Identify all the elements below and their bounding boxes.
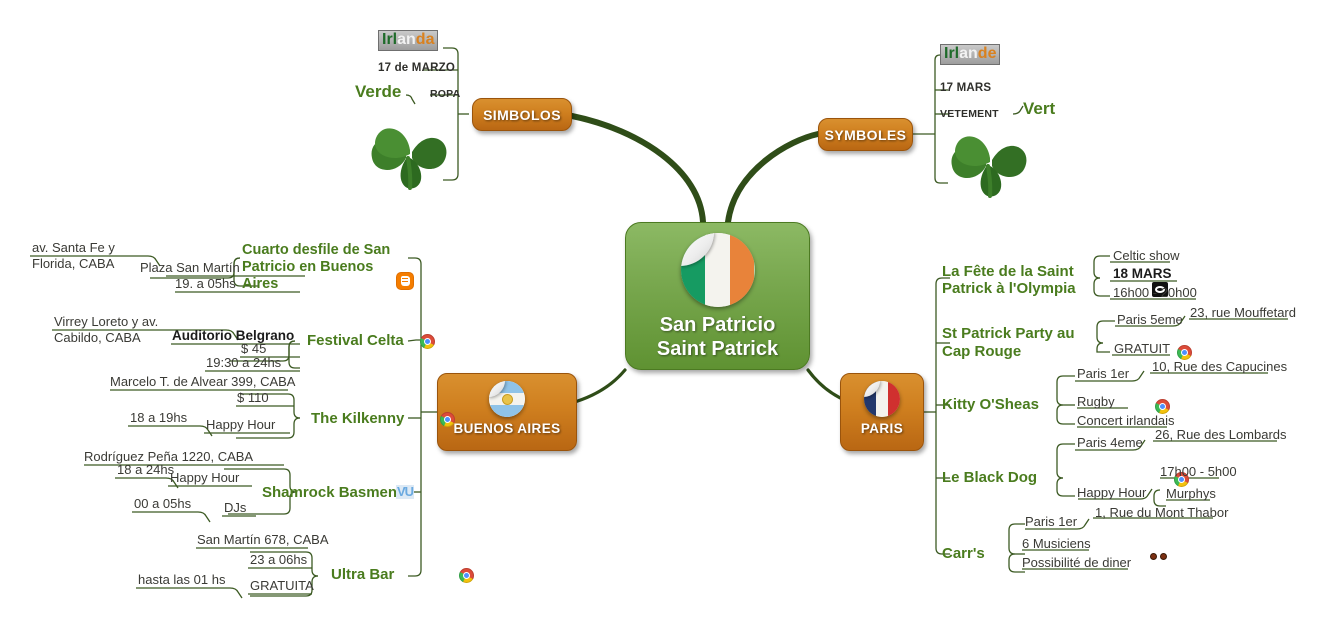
ba-detail-2-2: Auditorio Belgrano: [172, 328, 294, 343]
france-flag-sticker-icon: [864, 381, 900, 417]
ba-item-title-3[interactable]: The Kilkenny: [311, 410, 404, 427]
symboles-chip-irlande: Irlande: [940, 44, 1000, 65]
blogger-icon[interactable]: [397, 273, 413, 289]
ireland-flag-sticker-icon: [681, 233, 755, 307]
ba-item-title-1[interactable]: Cuarto desfile de San Patricio en Buenos…: [242, 242, 392, 293]
chip-fr-part3: de: [978, 45, 997, 62]
pa-item-title-4[interactable]: Le Black Dog: [942, 469, 1037, 486]
ba-detail-2-3: $ 45: [241, 341, 266, 356]
ba-item-title-2[interactable]: Festival Celta: [307, 332, 404, 349]
pa-detail-3-2: Rugby: [1077, 394, 1115, 409]
simbolos-color: Verde: [355, 82, 401, 102]
chrome-icon[interactable]: [459, 568, 474, 583]
node-paris[interactable]: PARIS: [840, 373, 924, 451]
ba-detail-4-1: Happy Hour: [170, 470, 239, 485]
central-node[interactable]: San Patricio Saint Patrick: [625, 222, 810, 370]
pa-detail-5-0: Paris 1er: [1025, 514, 1077, 529]
central-title-line1: San Patricio: [657, 313, 778, 337]
symboles-date: 17 MARS: [940, 82, 991, 94]
ba-detail-5-3: hasta las 01 hs: [138, 572, 225, 587]
symboles-clothing: VETEMENT: [940, 108, 999, 120]
chip-part1: Irl: [382, 31, 397, 48]
shamrock-clover-icon: [360, 112, 460, 192]
central-title-line2: Saint Patrick: [657, 337, 778, 361]
pa-item-title-5[interactable]: Carr's: [942, 545, 985, 562]
ba-detail-2-1: Cabildo, CABA: [54, 330, 141, 345]
vu-icon[interactable]: VU: [396, 485, 414, 499]
mindmap-canvas: San Patricio Saint Patrick SIMBOLOS Irla…: [0, 0, 1322, 629]
ba-detail-1-0: av. Santa Fe y: [32, 240, 115, 255]
ba-detail-4-3: DJs: [224, 500, 246, 515]
simbolos-clothing: ROPA: [430, 88, 460, 100]
pa-detail-4-1: 26, Rue des Lombards: [1155, 427, 1287, 442]
simbolos-chip-irlanda: Irlanda: [378, 30, 438, 51]
pa-item-title-1-l1[interactable]: La Fête de la Saint: [942, 263, 1074, 280]
symboles-label: SYMBOLES: [825, 127, 907, 143]
pa-detail-5-3: Possibilité de diner: [1022, 555, 1131, 570]
pa-detail-4-4: Murphys: [1166, 486, 1216, 501]
ba-detail-4-2: 18 a 24hs: [117, 462, 174, 477]
pa-detail-4-0: Paris 4eme: [1077, 435, 1143, 450]
shamrock-clover-icon-fr: [940, 120, 1040, 200]
ba-detail-3-1: $ 110: [237, 390, 269, 405]
node-symboles[interactable]: SYMBOLES: [818, 118, 913, 151]
pa-detail-3-0: Paris 1er: [1077, 366, 1129, 381]
chip-fr-part2: an: [959, 45, 978, 62]
chrome-icon[interactable]: [420, 334, 435, 349]
pa-detail-1-2: 16h00 - 20h00: [1113, 285, 1197, 300]
mask-glasses-icon[interactable]: [1150, 552, 1167, 563]
pa-detail-2-1: 23, rue Mouffetard: [1190, 305, 1296, 320]
simbolos-label: SIMBOLOS: [483, 107, 561, 123]
pa-detail-3-1: 10, Rue des Capucines: [1152, 359, 1287, 374]
pa-detail-1-1: 18 MARS: [1113, 266, 1172, 281]
simbolos-date: 17 de MARZO: [378, 62, 455, 74]
node-buenos-aires[interactable]: BUENOS AIRES: [437, 373, 577, 451]
chip-fr-part1: Irl: [944, 45, 959, 62]
pa-detail-3-3: Concert irlandais: [1077, 413, 1175, 428]
ba-detail-1-3: 19. a 05hs: [175, 276, 236, 291]
paris-label: PARIS: [861, 421, 903, 436]
buenos-aires-label: BUENOS AIRES: [453, 421, 560, 436]
pa-detail-4-3: 17h00 - 5h00: [1160, 464, 1237, 479]
ba-detail-5-2: GRATUITA: [250, 578, 314, 593]
ba-detail-3-0: Marcelo T. de Alvear 399, CABA: [110, 374, 295, 389]
ba-detail-5-1: 23 a 06hs: [250, 552, 307, 567]
pa-item-title-2-l2[interactable]: Cap Rouge: [942, 343, 1021, 360]
ba-detail-3-2: Happy Hour: [206, 417, 275, 432]
ba-detail-2-4: 19:30 a 24hs: [206, 355, 281, 370]
pa-item-title-3[interactable]: Kitty O'Sheas: [942, 396, 1039, 413]
ba-detail-2-0: Virrey Loreto y av.: [54, 314, 158, 329]
ba-detail-1-1: Florida, CABA: [32, 256, 114, 271]
ba-item-title-4[interactable]: Shamrock Basment: [262, 484, 402, 501]
pa-item-title-2-l1[interactable]: St Patrick Party au: [942, 325, 1075, 342]
pa-detail-5-1: 1, Rue du Mont Thabor: [1095, 505, 1228, 520]
chip-part2: an: [397, 31, 416, 48]
ba-item-title-5[interactable]: Ultra Bar: [331, 566, 394, 583]
pa-item-title-1-l2[interactable]: Patrick à l'Olympia: [942, 280, 1076, 297]
ba-detail-3-3: 18 a 19hs: [130, 410, 187, 425]
pa-detail-4-2: Happy Hour: [1077, 485, 1146, 500]
pa-detail-5-2: 6 Musiciens: [1022, 536, 1091, 551]
ba-detail-4-4: 00 a 05hs: [134, 496, 191, 511]
argentina-flag-sticker-icon: [489, 381, 525, 417]
pa-detail-2-2: GRATUIT: [1114, 341, 1170, 356]
symboles-color: Vert: [1023, 99, 1055, 119]
chip-part3: da: [416, 31, 435, 48]
node-simbolos[interactable]: SIMBOLOS: [472, 98, 572, 131]
ba-detail-5-0: San Martín 678, CABA: [197, 532, 329, 547]
pa-detail-1-0: Celtic show: [1113, 248, 1179, 263]
ba-detail-1-2: Plaza San Martín: [140, 260, 240, 275]
pa-detail-2-0: Paris 5eme: [1117, 312, 1183, 327]
